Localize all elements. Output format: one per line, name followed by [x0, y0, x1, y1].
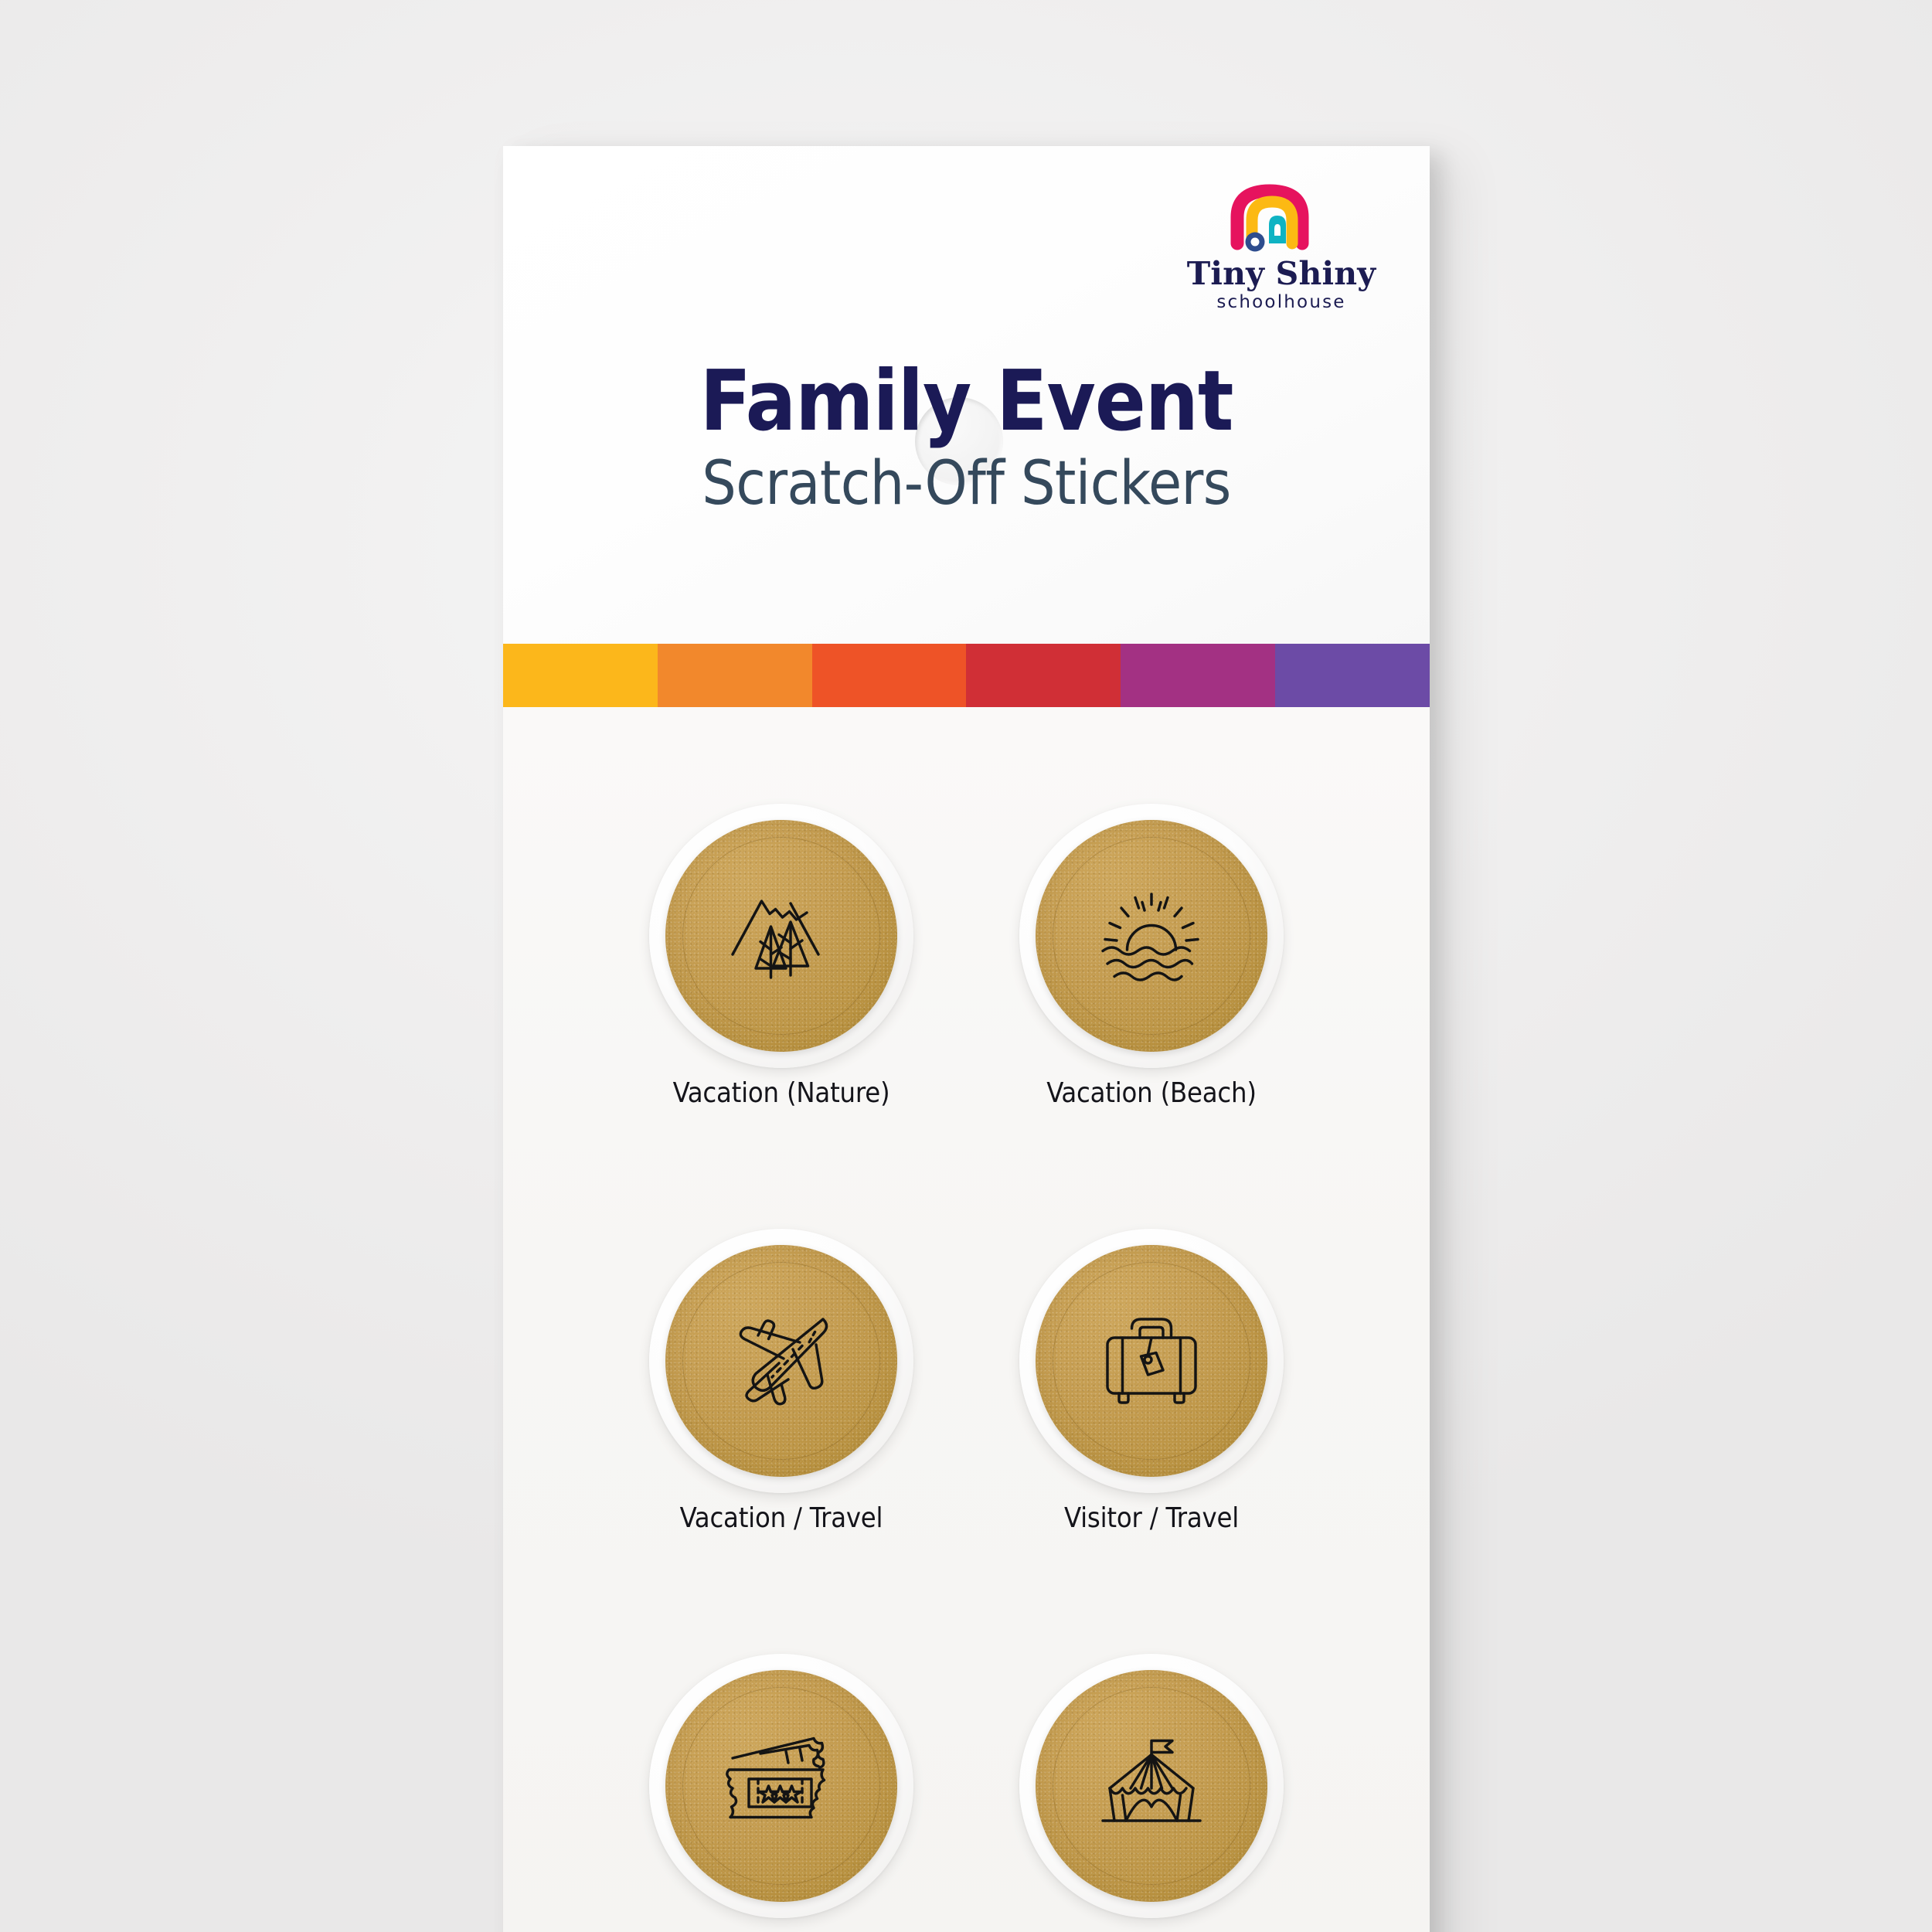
mountains-trees-icon — [723, 878, 839, 994]
sticker-item[interactable]: Vacation (Beach) — [981, 804, 1321, 1113]
suitcase-tag-icon — [1094, 1303, 1209, 1419]
stripe-segment-red-orange — [812, 644, 967, 707]
sticker-item[interactable] — [981, 1654, 1321, 1932]
stripe-segment-orange — [658, 644, 812, 707]
scratch-off-disc[interactable] — [1036, 1670, 1267, 1902]
scratch-off-disc[interactable] — [1036, 1245, 1267, 1477]
circus-tent-icon — [1094, 1728, 1209, 1844]
color-stripe — [503, 644, 1430, 707]
rainbow-caravan-icon — [1230, 180, 1334, 254]
sticker-label: Vacation / Travel — [611, 1502, 951, 1534]
scratch-off-disc[interactable] — [665, 820, 897, 1052]
stripe-segment-magenta — [1121, 644, 1275, 707]
sticker-label: Visitor / Travel — [981, 1502, 1321, 1534]
product-title: Family Event — [503, 360, 1430, 444]
brand-wordmark: Tiny Shiny — [1169, 257, 1393, 291]
stripe-segment-red — [966, 644, 1121, 707]
airplane-icon — [723, 1303, 839, 1419]
sticker-package: Tiny Shiny schoolhouse Family Event Scra… — [503, 146, 1430, 1932]
stripe-segment-amber — [503, 644, 658, 707]
sticker-label: Vacation (Nature) — [611, 1077, 951, 1109]
package-header: Tiny Shiny schoolhouse Family Event Scra… — [503, 146, 1430, 644]
scratch-off-disc[interactable] — [1036, 820, 1267, 1052]
sunrise-waves-icon — [1094, 878, 1209, 994]
brand-logo: Tiny Shiny schoolhouse — [1169, 180, 1393, 327]
sticker-item[interactable] — [611, 1654, 951, 1932]
sticker-sheet: Vacation (Nature) Vacation (Beach) Vacat… — [503, 707, 1430, 1932]
sticker-item[interactable]: Vacation / Travel — [611, 1229, 951, 1538]
scratch-off-disc[interactable] — [665, 1670, 897, 1902]
product-subtitle: Scratch-Off Stickers — [503, 454, 1430, 514]
sticker-item[interactable]: Visitor / Travel — [981, 1229, 1321, 1538]
scratch-off-disc[interactable] — [665, 1245, 897, 1477]
tickets-stars-icon — [723, 1728, 839, 1844]
stripe-segment-purple — [1275, 644, 1430, 707]
sticker-item[interactable]: Vacation (Nature) — [611, 804, 951, 1113]
brand-tagline: schoolhouse — [1169, 292, 1393, 312]
sticker-label: Vacation (Beach) — [981, 1077, 1321, 1109]
